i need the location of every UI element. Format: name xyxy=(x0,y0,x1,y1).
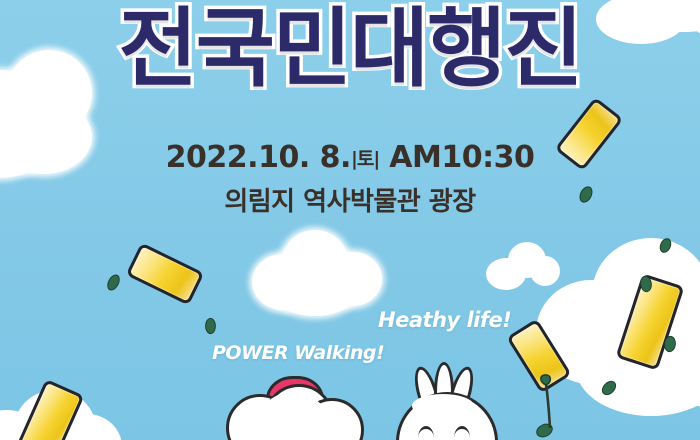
sprout-doodle-icon xyxy=(536,372,570,428)
event-datetime: 2022.10. 8.|토| AM10:30 xyxy=(0,140,700,175)
event-time: AM10:30 xyxy=(389,140,534,175)
slogan-healthy-life: Heathy life! xyxy=(378,308,511,332)
slogan-power-walking: POWER Walking! xyxy=(212,342,384,364)
event-venue: 의림지 역사박물관 광장 xyxy=(0,181,700,218)
cloud-icon-center xyxy=(252,228,388,312)
cloud-mascot-icon xyxy=(224,378,364,440)
rabbit-mascot-icon xyxy=(392,366,512,440)
event-info: 2022.10. 8.|토| AM10:30 의림지 역사박물관 광장 xyxy=(0,140,700,218)
event-date: 2022.10. 8. xyxy=(166,140,351,175)
event-day-of-week: |토| xyxy=(351,148,379,170)
event-poster: 전국민대행진 2022.10. 8.|토| AM10:30 의림지 역사박물관 … xyxy=(0,0,700,440)
page-title: 전국민대행진 xyxy=(119,4,582,94)
poster-title-wrap: 전국민대행진 xyxy=(0,4,700,94)
